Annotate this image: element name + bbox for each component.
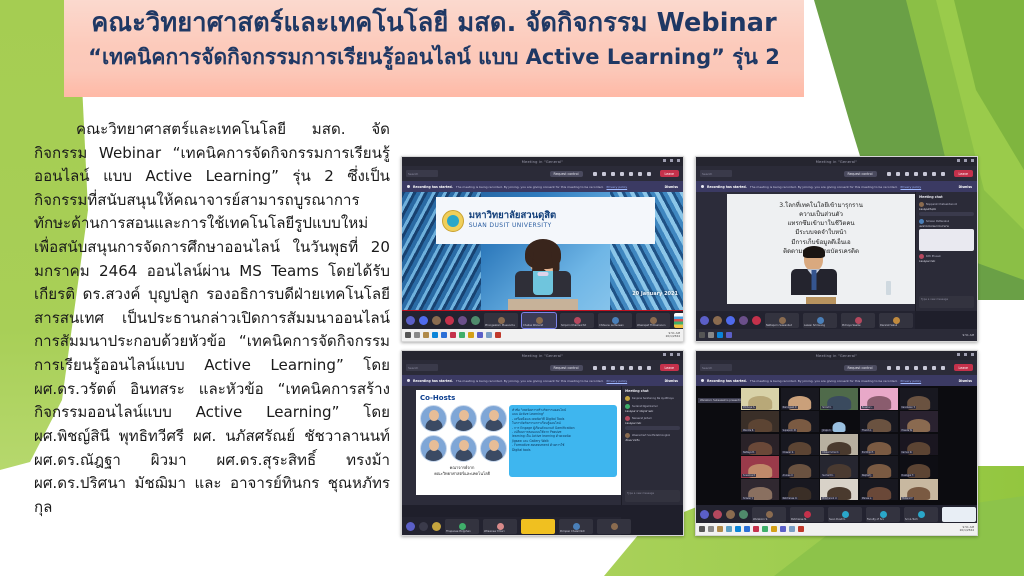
privacy-policy-link[interactable]: Privacy policy: [901, 379, 922, 383]
cohost-caption-line2: คณะวิทยาศาสตร์และเทคโนโลยี: [420, 471, 504, 477]
chat-author: Nareerat Jaiharn: [632, 417, 652, 420]
chat-message: Kanjana Sanitwong Na Ayutthaya: [625, 396, 680, 401]
microphone-icon[interactable]: [602, 366, 606, 370]
close-icon[interactable]: [971, 353, 974, 356]
minimize-icon[interactable]: [663, 353, 666, 356]
tray-tile-name: Chalisa Wananit: [523, 324, 553, 327]
tray-tile[interactable]: Suan Dusit U.: [828, 507, 862, 522]
participant-name: Wanida R.: [742, 429, 755, 432]
chat-message: Weerachart Sonthidetmongkol เยี่ยมมากครั…: [625, 433, 680, 442]
teams-titlebar-text: Meeting in "General": [522, 160, 564, 164]
gallery-cell[interactable]: Thidarat F.: [900, 479, 938, 500]
raise-hand-icon[interactable]: [647, 366, 651, 370]
share-icon[interactable]: [905, 172, 909, 176]
recording-bold: Recording has started.: [413, 379, 453, 383]
participant-name: Supaporn M.: [782, 429, 798, 432]
camera-icon[interactable]: [593, 172, 597, 176]
chat-message: Kitti Phusuk ขอบคุณมากค่ะ: [919, 254, 974, 263]
tray-avatar[interactable]: [406, 522, 415, 531]
chat-body: ขอบคุณมากค่ะ: [919, 260, 974, 263]
chat-input[interactable]: Type a new message: [919, 296, 974, 308]
gallery-cell[interactable]: Supaporn M.: [781, 411, 819, 432]
window-controls[interactable]: [957, 353, 974, 356]
file-explorer-icon[interactable]: [423, 332, 429, 338]
leave-button[interactable]: Leave: [954, 170, 973, 177]
participant-name: Ratchanee O.: [782, 497, 799, 500]
zoom-icon[interactable]: [789, 526, 795, 532]
speaker-head: [804, 248, 823, 271]
tray-tile[interactable]: Warakorn S.: [752, 507, 786, 522]
tray-avatar[interactable]: [471, 316, 480, 325]
gallery-cell[interactable]: Busaba L.: [860, 388, 898, 409]
gallery-cell[interactable]: Jirapa C.: [820, 411, 858, 432]
outlook-icon[interactable]: [744, 526, 750, 532]
cohost-portrait: [450, 435, 477, 462]
tray-tile-name: Wilasinee Yimsri: [484, 530, 514, 533]
window-controls[interactable]: [663, 159, 680, 162]
start-icon[interactable]: [699, 526, 705, 532]
cohost-portrait: [420, 435, 447, 462]
zoom-icon[interactable]: [486, 332, 492, 338]
privacy-policy-link[interactable]: Privacy policy: [607, 185, 628, 189]
presenter-body: [515, 271, 571, 297]
microphone-icon[interactable]: [602, 172, 606, 176]
raise-hand-icon[interactable]: [941, 366, 945, 370]
request-control-button[interactable]: Request control: [844, 171, 877, 177]
chart-icon[interactable]: [726, 526, 732, 532]
teams-titlebar: Meeting in "General": [402, 351, 683, 360]
tray-tile[interactable]: Weerapat Thitisaranon: [636, 313, 670, 328]
speaker-figure: [791, 248, 837, 295]
search-icon[interactable]: [414, 332, 420, 338]
screenshot-speaker-privacy-slide[interactable]: Meeting in "General" Search Request cont…: [695, 156, 978, 342]
tray-tile[interactable]: [597, 519, 631, 534]
chat-message: Nopparat Chatsakdanont ขอบคุณครับ/ค่ะ: [919, 202, 974, 216]
participant-name: Arunee V.: [782, 474, 794, 477]
file-explorer-icon[interactable]: [717, 526, 723, 532]
recording-text: The meeting is being recorded. By joinin…: [750, 185, 898, 189]
screenshot-gallery-view[interactable]: Meeting in "General" Search Request cont…: [695, 350, 978, 536]
maximize-icon[interactable]: [670, 353, 673, 356]
chat-icon[interactable]: [629, 172, 633, 176]
tray-tile-name: Pornpan Chalermkit: [560, 530, 590, 533]
recording-bold: Recording has started.: [707, 379, 747, 383]
tray-avatar[interactable]: [700, 316, 709, 325]
meeting-controls[interactable]: [887, 172, 945, 176]
excel-icon[interactable]: [762, 526, 768, 532]
tray-tile-name: Weerapat Thitisaranon: [637, 324, 667, 327]
tray-tile-screenshare[interactable]: [942, 507, 976, 522]
recording-banner: Recording has started. The meeting is be…: [402, 181, 683, 192]
minimize-icon[interactable]: [957, 159, 960, 162]
gallery-cell[interactable]: Pitchaya S.: [741, 388, 779, 409]
microphone-icon[interactable]: [896, 172, 900, 176]
participant-name: Manee L.: [861, 497, 873, 500]
tray-avatar[interactable]: [713, 510, 722, 519]
participant-name: Thidarat F.: [901, 497, 914, 500]
tray-avatar[interactable]: [713, 316, 722, 325]
tray-tile[interactable]: Phongsakorn Mueanchan: [484, 313, 518, 328]
window-controls[interactable]: [663, 353, 680, 356]
tray-tile[interactable]: Nattaporn Suwanbut: [765, 313, 799, 328]
cohost-portrait: [480, 435, 507, 462]
recording-dot-icon: [407, 185, 410, 188]
excel-icon[interactable]: [459, 332, 465, 338]
recording-dot-icon: [701, 379, 704, 382]
search-input[interactable]: Search: [700, 364, 732, 371]
start-icon[interactable]: [405, 332, 411, 338]
leave-button[interactable]: Leave: [954, 364, 973, 371]
gallery-cell[interactable]: Pimchanok U.: [820, 479, 858, 500]
recording-text: The meeting is being recorded. By joinin…: [456, 379, 604, 383]
tray-tile-name: Siriporn Khamwichit: [561, 324, 591, 327]
powerpoint-icon[interactable]: [798, 526, 804, 532]
windows-taskbar[interactable]: 9:51 AM 20/1/2564: [402, 329, 683, 341]
chat-author: Nopparat Chatsakdanont: [926, 203, 957, 206]
avatar: [625, 396, 630, 401]
participant-name: Kamon N.: [901, 451, 914, 454]
participant-name: Jirapa C.: [821, 429, 832, 432]
gallery-cell[interactable]: Pornthip E.: [860, 434, 898, 455]
tray-tile-share[interactable]: [521, 519, 555, 534]
presenter-hair: [525, 239, 561, 269]
tray-avatar[interactable]: [752, 316, 761, 325]
recording-banner: Recording has started. The meeting is be…: [696, 181, 977, 192]
gallery-cell[interactable]: Preeda W.: [900, 411, 938, 432]
participant-name: Duangjai T.: [901, 474, 915, 477]
participant-name: Siriwan Y.: [742, 497, 754, 500]
share-icon[interactable]: [611, 366, 615, 370]
tray-tile[interactable]: Faculty of Sci.: [866, 507, 900, 522]
tray-tile-name: Lawan Srimuang: [804, 324, 834, 327]
tray-tile-name: Faculty of Sci.: [867, 518, 897, 521]
search-icon[interactable]: [708, 526, 714, 532]
folder-icon[interactable]: [771, 526, 777, 532]
cohost-portrait: [450, 405, 477, 432]
tray-tile-name: Suan Dusit U.: [829, 518, 859, 521]
dismiss-button[interactable]: Dismiss: [665, 185, 678, 189]
powerpoint-icon[interactable]: [495, 332, 501, 338]
presenter-figure: [515, 242, 571, 297]
chat-author: Kanjana Sanitwong Na Ayutthaya: [632, 397, 674, 400]
banner-thai-name: มหาวิทยาลัยสวนดุสิต: [469, 211, 557, 221]
gallery-cell[interactable]: Wanida R.: [741, 411, 779, 432]
slide-line: มีระบบจดจำใบหน้า: [734, 228, 907, 237]
request-control-button[interactable]: Request control: [550, 365, 583, 371]
article-body: คณะวิทยาศาสตร์และเทคโนโลยี มสด. จัดกิจกร…: [34, 120, 390, 516]
tray-tile[interactable]: Wilasinee Yimsri: [483, 519, 517, 534]
maximize-icon[interactable]: [964, 159, 967, 162]
request-control-button[interactable]: Request control: [550, 171, 583, 177]
tray-tile[interactable]: Thapanee Pinijphan: [445, 519, 479, 534]
slide-line: ความเป็นส่วนตัว: [734, 210, 907, 219]
banner-text-block: มหาวิทยาลัยสวนดุสิต SUAN DUSIT UNIVERSIT…: [469, 211, 557, 230]
tray-tile-name: Dararat Sakul: [880, 324, 910, 327]
avatar: [625, 404, 630, 409]
presenting-indicator: Warakorn Suksawat is presenting: [698, 398, 745, 403]
gallery-cell[interactable]: Kamon N.: [900, 434, 938, 455]
chat-panel-title: Meeting chat: [919, 195, 974, 199]
gallery-cell[interactable]: Suchart K.: [820, 456, 858, 477]
folder-icon[interactable]: [468, 332, 474, 338]
clock-date: 20/1/2564: [666, 334, 680, 338]
teams-titlebar-text: Meeting in "General": [816, 354, 858, 358]
dismiss-button[interactable]: Dismiss: [959, 379, 972, 383]
leave-button[interactable]: Leave: [660, 364, 679, 371]
tray-avatar[interactable]: [445, 316, 454, 325]
more-icon[interactable]: [914, 366, 918, 370]
participant-tray: Phongsakorn Mueanchan Chalisa Wananit Si…: [402, 311, 683, 329]
cohost-photo-block: คณาจารย์จาก คณะวิทยาศาสตร์และเทคโนโลยี: [420, 405, 504, 477]
gallery-cell[interactable]: Sirirat K.: [820, 388, 858, 409]
participant-name: Narongsak P.: [782, 406, 798, 409]
tray-tile[interactable]: Dararat Sakul: [879, 313, 913, 328]
screenshot-co-hosts-slide[interactable]: Meeting in "General" Search Request cont…: [401, 350, 684, 536]
recording-dot-icon: [701, 185, 704, 188]
avatar: [919, 202, 924, 207]
gallery-cell[interactable]: Thanit A.: [860, 411, 898, 432]
more-icon[interactable]: [914, 172, 918, 176]
maximize-icon[interactable]: [964, 353, 967, 356]
meeting-stage: มหาวิทยาลัยสวนดุสิต SUAN DUSIT UNIVERSIT…: [402, 192, 683, 311]
teams-icon[interactable]: [726, 332, 732, 338]
chat-author: Kitti Phusuk: [926, 255, 941, 258]
tray-tile-name: Chitsanu Lertsuwan: [599, 324, 629, 327]
gallery-cell[interactable]: Suwanna P.: [741, 456, 779, 477]
participant-name: Pitchaya S.: [742, 406, 756, 409]
search-input[interactable]: Search: [406, 364, 438, 371]
meeting-stage: Warakorn Suksawat is presenting Pitchaya…: [696, 386, 977, 505]
slide-line: มีการเก็บข้อมูลดีเอ็นเอ: [734, 238, 907, 247]
tray-avatar[interactable]: [700, 510, 709, 519]
university-seal-icon: [442, 210, 464, 232]
edge-icon[interactable]: [735, 526, 741, 532]
presenter-necklace: [537, 272, 548, 276]
privacy-policy-link[interactable]: Privacy policy: [607, 379, 628, 383]
meeting-chat-panel[interactable]: Meeting chat Kanjana Sanitwong Na Ayutth…: [621, 386, 683, 505]
chat-author: Sudarat Ngamkamol: [632, 405, 658, 408]
taskbar-clock[interactable]: 9:51 AM 20/1/2564: [666, 332, 680, 338]
gallery-cell[interactable]: Arunee V.: [781, 456, 819, 477]
teams-toolbar: Search Request control Leave: [402, 166, 683, 181]
participant-tray: Thapanee Pinijphan Wilasinee Yimsri Porn…: [402, 517, 621, 535]
tray-tile-name: Patcharee N.: [791, 518, 821, 521]
tray-tile-screenshare[interactable]: [674, 313, 684, 328]
people-icon[interactable]: [638, 172, 642, 176]
participant-name: Suchart K.: [821, 474, 834, 477]
gallery-cell[interactable]: Ratchanee O.: [781, 479, 819, 500]
raise-hand-icon[interactable]: [647, 172, 651, 176]
windows-taskbar[interactable]: 9:51 AM 20/1/2564: [696, 523, 977, 535]
raise-hand-icon[interactable]: [941, 172, 945, 176]
taskbar-clock[interactable]: 9:51 AM: [963, 334, 975, 337]
speaker-suit: [791, 269, 837, 295]
slide-line: 3.โลกที่เทคโนโลยีเข้ามารุกราน: [734, 201, 907, 210]
pdf-icon[interactable]: [450, 332, 456, 338]
teams-titlebar: Meeting in "General": [696, 351, 977, 360]
chat-body: เอกสารประกอบการบรรยาย: [919, 225, 974, 228]
chat-attachment-preview[interactable]: [919, 229, 974, 251]
maximize-icon[interactable]: [670, 159, 673, 162]
gallery-cell[interactable]: Narongsak P.: [781, 388, 819, 409]
minimize-icon[interactable]: [663, 159, 666, 162]
share-icon[interactable]: [905, 366, 909, 370]
teams-toolbar: Search Request control Leave: [402, 360, 683, 375]
people-icon[interactable]: [932, 366, 936, 370]
speaker-tie: [811, 270, 816, 290]
gallery-cell[interactable]: Siriwan Y.: [741, 479, 779, 500]
participant-name: Sirirat K.: [821, 406, 832, 409]
chat-bubble: [919, 212, 974, 216]
search-input[interactable]: Search: [700, 170, 732, 177]
more-icon[interactable]: [620, 172, 624, 176]
microphone-icon[interactable]: [896, 366, 900, 370]
participant-tray: Nattaporn Suwanbut Lawan Srimuang Pichay…: [696, 311, 915, 329]
screenshot-webinar-opening[interactable]: Meeting in "General" Search Request cont…: [401, 156, 684, 342]
meeting-chat-panel[interactable]: Meeting chat Nopparat Chatsakdanont ขอบค…: [915, 192, 977, 311]
tray-avatar[interactable]: [458, 316, 467, 325]
cohost-portrait: [420, 405, 447, 432]
participant-name: Kanokwan T.: [901, 406, 917, 409]
slide-note-box: หัวข้อ "เทคนิคการสร้างกิจกรรมออนไลน์ แบบ…: [509, 405, 617, 477]
page-title-line2: “เทคนิคการจัดกิจกรรมการเรียนรู้ออนไลน์ แ…: [74, 43, 794, 72]
chat-message: Nareerat Jaiharn ขอบคุณมากค่ะ: [625, 416, 680, 430]
gallery-cell[interactable]: Orawan S.: [781, 434, 819, 455]
close-icon[interactable]: [677, 159, 680, 162]
recording-banner: Recording has started. The meeting is be…: [402, 375, 683, 386]
pdf-icon[interactable]: [753, 526, 759, 532]
close-icon[interactable]: [677, 353, 680, 356]
gallery-cell[interactable]: Chalermchai D.: [820, 434, 858, 455]
more-icon[interactable]: [620, 366, 624, 370]
tray-avatar[interactable]: [739, 316, 748, 325]
avatar: [919, 254, 924, 259]
cohost-photo-grid: [420, 405, 504, 462]
lectern: [806, 297, 836, 304]
recording-dot-icon: [407, 379, 410, 382]
tray-tile[interactable]: Chalisa Wananit: [522, 313, 556, 328]
recording-bold: Recording has started.: [413, 185, 453, 189]
tray-avatar[interactable]: [406, 316, 415, 325]
outlook-icon[interactable]: [441, 332, 447, 338]
participant-name: Chalermchai D.: [821, 451, 840, 454]
chat-panel-title: Meeting chat: [625, 389, 680, 393]
search-icon[interactable]: [708, 332, 714, 338]
taskbar-clock[interactable]: 9:51 AM 20/1/2564: [960, 526, 974, 532]
chat-icon[interactable]: [629, 366, 633, 370]
edge-icon[interactable]: [432, 332, 438, 338]
teams-titlebar: Meeting in "General": [402, 157, 683, 166]
header-banner: คณะวิทยาศาสตร์และเทคโนโลยี มสด. จัดกิจกร…: [64, 0, 804, 97]
camera-icon[interactable]: [593, 366, 597, 370]
chat-author: Siriwan Pattanakul: [926, 220, 949, 223]
gallery-cell[interactable]: Naphat J.: [860, 456, 898, 477]
tray-avatar[interactable]: [432, 316, 441, 325]
close-icon[interactable]: [971, 159, 974, 162]
gallery-cell[interactable]: Duangjai T.: [900, 456, 938, 477]
tray-tile[interactable]: Pichaya Saeliw: [841, 313, 875, 328]
tray-avatar[interactable]: [419, 316, 428, 325]
dismiss-button[interactable]: Dismiss: [959, 185, 972, 189]
clock-date: 20/1/2564: [960, 528, 974, 532]
tray-avatar[interactable]: [726, 510, 735, 519]
tray-tile[interactable]: Lawan Srimuang: [803, 313, 837, 328]
windows-taskbar[interactable]: 9:51 AM: [696, 329, 977, 341]
teams-titlebar-text: Meeting in "General": [522, 354, 564, 358]
chat-input[interactable]: Type a new message: [625, 490, 680, 502]
participant-name: Nattaya B.: [742, 451, 756, 454]
participant-name: Naphat J.: [861, 474, 873, 477]
date-overlay: 20 January 2021: [632, 291, 678, 297]
avatar: [919, 219, 924, 224]
teams-toolbar: Search Request control Leave: [696, 360, 977, 375]
leave-button[interactable]: Leave: [660, 170, 679, 177]
chat-icon[interactable]: [923, 366, 927, 370]
shared-slide: Co-Hosts คณาจารย์จาก คณะวิทยาศาสตร์และเท: [416, 390, 621, 496]
meeting-controls[interactable]: [593, 366, 651, 370]
gallery-cell[interactable]: Nattaya B.: [741, 434, 779, 455]
tray-tile-name: Thapanee Pinijphan: [446, 530, 476, 533]
gallery-cell[interactable]: Kanokwan T.: [900, 388, 938, 409]
dismiss-button[interactable]: Dismiss: [665, 379, 678, 383]
camera-icon[interactable]: [887, 172, 891, 176]
edge-icon[interactable]: [717, 332, 723, 338]
minimize-icon[interactable]: [957, 353, 960, 356]
request-control-button[interactable]: Request control: [844, 365, 877, 371]
chat-message: Siriwan Pattanakul เอกสารประกอบการบรรยาย: [919, 219, 974, 251]
tray-avatar[interactable]: [726, 316, 735, 325]
participant-name: Preeda W.: [901, 429, 914, 432]
teams-titlebar: Meeting in "General": [696, 157, 977, 166]
people-icon[interactable]: [932, 172, 936, 176]
tray-tile-name: Warakorn S.: [753, 518, 783, 521]
camera-icon[interactable]: [887, 366, 891, 370]
tray-tile[interactable]: Siriporn Khamwichit: [560, 313, 594, 328]
meeting-controls[interactable]: [887, 366, 945, 370]
chat-body: เยี่ยมมากครับ: [625, 439, 680, 442]
tray-avatar[interactable]: [739, 510, 748, 519]
people-icon[interactable]: [638, 366, 642, 370]
slide-content: คณาจารย์จาก คณะวิทยาศาสตร์และเทคโนโลยี ห…: [420, 405, 617, 477]
tray-tile[interactable]: Chitsanu Lertsuwan: [598, 313, 632, 328]
tray-tile[interactable]: Patcharee N.: [790, 507, 824, 522]
window-controls[interactable]: [957, 159, 974, 162]
avatar: [625, 416, 630, 421]
share-icon[interactable]: [611, 172, 615, 176]
recording-text: The meeting is being recorded. By joinin…: [750, 379, 898, 383]
teams-icon[interactable]: [780, 526, 786, 532]
teams-icon[interactable]: [477, 332, 483, 338]
tray-avatar[interactable]: [432, 522, 441, 531]
search-input[interactable]: Search: [406, 170, 438, 177]
chat-icon[interactable]: [923, 172, 927, 176]
avatar: [625, 433, 630, 438]
start-icon[interactable]: [699, 332, 705, 338]
participant-name: Thanit A.: [861, 429, 873, 432]
participant-tray: Warakorn S. Patcharee N. Suan Dusit U. F…: [696, 505, 977, 523]
slide-title: Co-Hosts: [420, 394, 617, 402]
tray-tile[interactable]: Sci & Tech: [904, 507, 938, 522]
tray-tile[interactable]: Pornpan Chalermkit: [559, 519, 593, 534]
clock-time: 9:51 AM: [963, 333, 975, 337]
tray-avatar[interactable]: [419, 522, 428, 531]
privacy-policy-link[interactable]: Privacy policy: [901, 185, 922, 189]
page-title-line1: คณะวิทยาศาสตร์และเทคโนโลยี มสด. จัดกิจกร…: [74, 6, 794, 41]
gallery-grid: Pitchaya S. Narongsak P. Sirirat K. Busa…: [741, 388, 938, 500]
gallery-cell[interactable]: Manee L.: [860, 479, 898, 500]
meeting-controls[interactable]: [593, 172, 651, 176]
decor-green-right-accent: [954, 0, 1024, 170]
